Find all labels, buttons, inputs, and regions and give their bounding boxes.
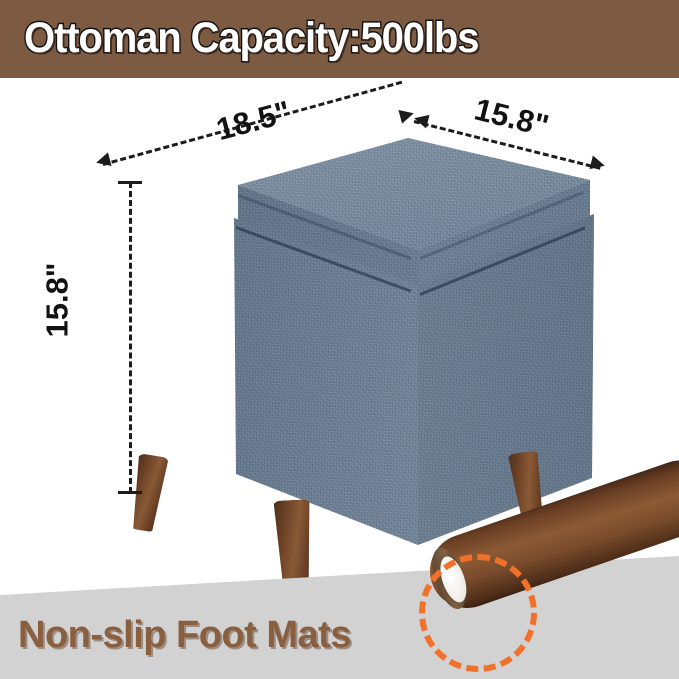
bottom-banner-text: Non-slip Foot Mats [18,612,351,658]
height-tick-top [118,181,142,184]
product-infographic-canvas: 18.5" 15.8" 15.8" Non-slip Foot Mats Ott… [0,0,679,679]
height-tick-bottom [118,491,142,494]
height-dimension-label: 15.8" [40,262,76,337]
top-banner-title: Ottoman Capacity:500lbs [24,13,478,63]
height-dimension-line [129,182,132,493]
top-banner-background: Ottoman Capacity:500lbs [0,0,679,78]
highlight-circle-icon [419,554,537,672]
